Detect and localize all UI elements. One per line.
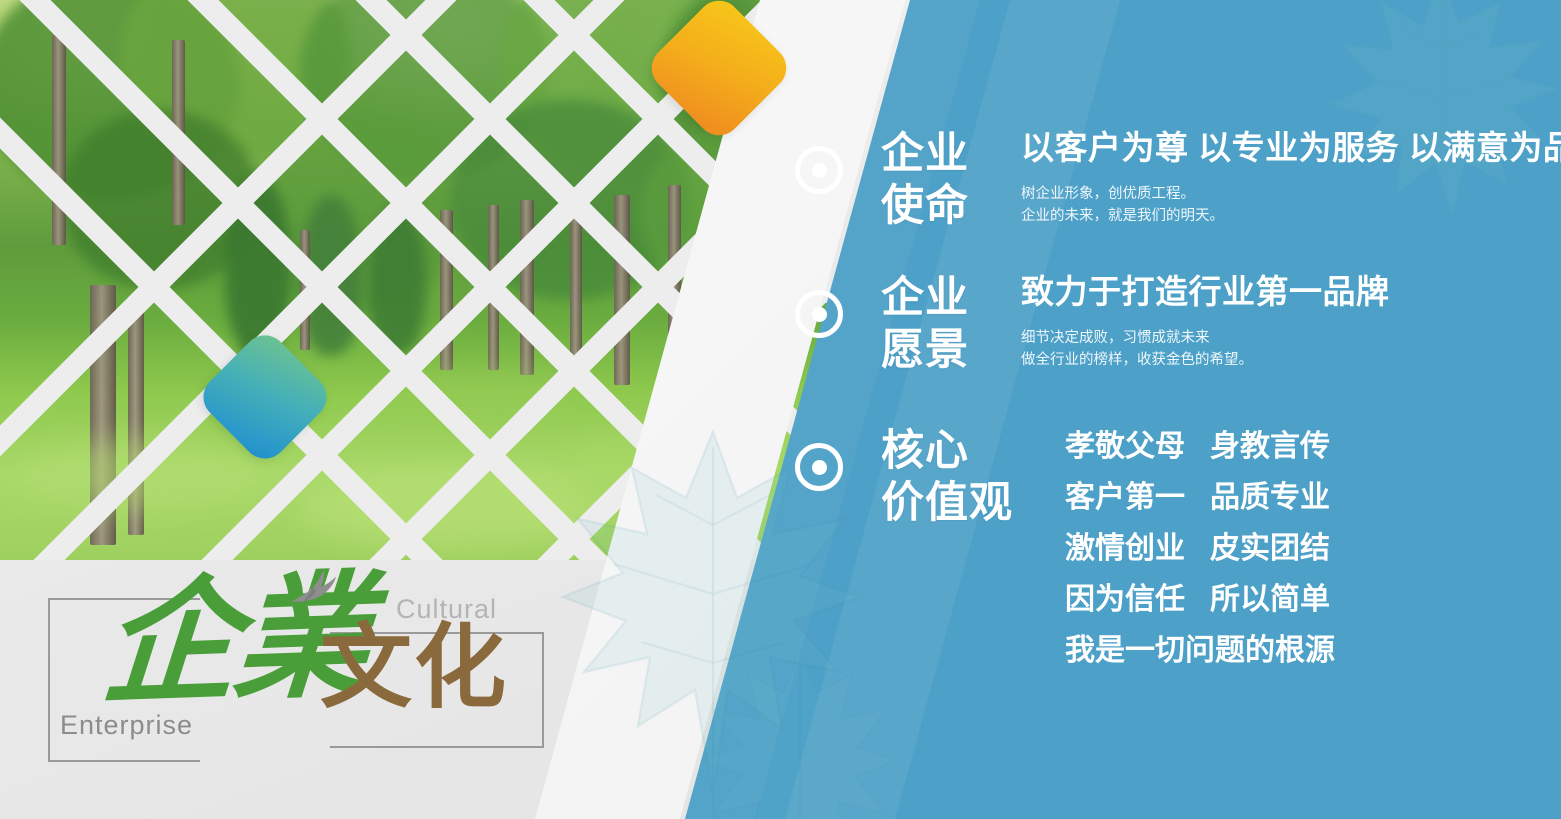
- core-value-left: 孝敬父母: [1065, 421, 1210, 472]
- core-value-right: 身教言传: [1210, 421, 1330, 472]
- logo-en-enterprise: Enterprise: [60, 710, 193, 741]
- sub-line-1: 细节决定成败，习惯成就未来: [1021, 327, 1390, 349]
- core-value-right: 品质专业: [1210, 472, 1330, 523]
- core-value-row: 我是一切问题的根源: [1065, 625, 1335, 676]
- section-mission-headline: 以客户为尊 以专业为服务 以满意为品质: [1021, 128, 1561, 168]
- core-values-list: 孝敬父母 身教言传 客户第一 品质专业 激情创业 皮实团结 因为信任 所以简单 …: [1065, 421, 1335, 676]
- core-value-left: 我是一切问题的根源: [1065, 625, 1335, 676]
- label-line-2: 使命: [881, 180, 969, 232]
- section-vision: 企业 愿景 致力于打造行业第一品牌 细节决定成败，习惯成就未来 做全行业的榜样，…: [795, 272, 1390, 376]
- section-mission-sub: 树企业形象，创优质工程。 企业的未来，就是我们的明天。: [1021, 183, 1561, 227]
- label-line-1: 企业: [881, 274, 969, 322]
- section-vision-headline: 致力于打造行业第一品牌: [1021, 272, 1390, 312]
- core-value-row: 孝敬父母 身教言传: [1065, 421, 1335, 472]
- core-value-left: 因为信任: [1065, 574, 1210, 625]
- sub-line-2: 做全行业的榜样，收获金色的希望。: [1021, 349, 1390, 371]
- section-core-values: 核心 价值观 孝敬父母 身教言传 客户第一 品质专业 激情创业 皮实团结 因为信…: [795, 425, 1335, 676]
- section-vision-body: 致力于打造行业第一品牌 细节决定成败，习惯成就未来 做全行业的榜样，收获金色的希…: [1021, 272, 1390, 371]
- section-mission: 企业 使命 以客户为尊 以专业为服务 以满意为品质 树企业形象，创优质工程。 企…: [795, 128, 1561, 232]
- label-line-1: 核心: [881, 427, 969, 475]
- poster-canvas: 企业 使命 以客户为尊 以专业为服务 以满意为品质 树企业形象，创优质工程。 企…: [0, 0, 1561, 819]
- label-line-1: 企业: [881, 130, 969, 178]
- label-line-2: 价值观: [881, 477, 1013, 529]
- core-value-left: 客户第一: [1065, 472, 1210, 523]
- section-vision-label: 企业 愿景: [881, 272, 969, 376]
- core-value-row: 因为信任 所以简单: [1065, 574, 1335, 625]
- core-value-row: 客户第一 品质专业: [1065, 472, 1335, 523]
- logo-cn-culture: 文化: [320, 622, 508, 714]
- core-value-left: 激情创业: [1065, 523, 1210, 574]
- core-value-right: 皮实团结: [1210, 523, 1330, 574]
- section-mission-body: 以客户为尊 以专业为服务 以满意为品质 树企业形象，创优质工程。 企业的未来，就…: [1021, 128, 1561, 227]
- target-dot-icon: [795, 290, 843, 338]
- sub-line-2: 企业的未来，就是我们的明天。: [1021, 205, 1561, 227]
- core-value-right: 所以简单: [1210, 574, 1330, 625]
- label-line-2: 愿景: [881, 324, 969, 376]
- section-values-label: 核心 价值观: [881, 425, 1013, 529]
- flying-bird-icon: [286, 565, 344, 613]
- enterprise-culture-logo: 企業 文化 Enterprise Cultural: [48, 570, 518, 770]
- section-mission-label: 企业 使命: [881, 128, 969, 232]
- logo-en-cultural: Cultural: [396, 594, 497, 625]
- target-dot-icon: [795, 443, 843, 491]
- target-dot-icon: [795, 146, 843, 194]
- sub-line-1: 树企业形象，创优质工程。: [1021, 183, 1561, 205]
- section-vision-sub: 细节决定成败，习惯成就未来 做全行业的榜样，收获金色的希望。: [1021, 327, 1390, 371]
- core-value-row: 激情创业 皮实团结: [1065, 523, 1335, 574]
